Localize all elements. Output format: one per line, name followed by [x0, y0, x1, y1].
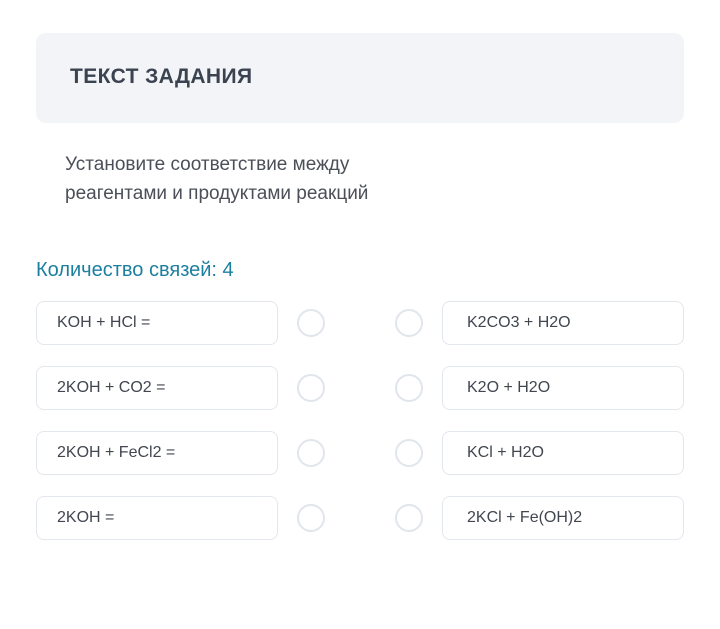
product-option[interactable]: 2KCl + Fe(OH)2: [442, 496, 684, 540]
connector-right-circle[interactable]: [395, 504, 423, 532]
match-row: KOH + HCl = K2CO3 + H2O: [0, 301, 720, 345]
product-option[interactable]: K2CO3 + H2O: [442, 301, 684, 345]
connector-left-circle[interactable]: [297, 439, 325, 467]
connector-left-circle[interactable]: [297, 504, 325, 532]
reagent-option[interactable]: 2KOH + CO2 =: [36, 366, 278, 410]
page-title: ТЕКСТ ЗАДАНИЯ: [70, 65, 252, 89]
task-header-panel: ТЕКСТ ЗАДАНИЯ: [36, 33, 684, 123]
task-statement: Установите соответствие между реагентами…: [65, 150, 625, 208]
match-row: 2KOH + CO2 = K2O + H2O: [0, 366, 720, 410]
product-option[interactable]: K2O + H2O: [442, 366, 684, 410]
reagent-option[interactable]: KOH + HCl =: [36, 301, 278, 345]
task-statement-line-1: Установите соответствие между: [65, 150, 625, 179]
connector-right-circle[interactable]: [395, 374, 423, 402]
task-page: ТЕКСТ ЗАДАНИЯ Установите соответствие ме…: [0, 0, 720, 629]
task-statement-line-2: реагентами и продуктами реакций: [65, 179, 625, 208]
link-count-label: Количество связей: 4: [36, 259, 234, 282]
connector-right-circle[interactable]: [395, 309, 423, 337]
connector-right-circle[interactable]: [395, 439, 423, 467]
match-row: 2KOH + FeCl2 = KCl + H2O: [0, 431, 720, 475]
match-row: 2KOH = 2KCl + Fe(OH)2: [0, 496, 720, 540]
connector-left-circle[interactable]: [297, 374, 325, 402]
reagent-option[interactable]: 2KOH =: [36, 496, 278, 540]
connector-left-circle[interactable]: [297, 309, 325, 337]
reagent-option[interactable]: 2KOH + FeCl2 =: [36, 431, 278, 475]
matching-area: KOH + HCl = K2CO3 + H2O 2KOH + CO2 = K2O…: [0, 301, 720, 540]
product-option[interactable]: KCl + H2O: [442, 431, 684, 475]
